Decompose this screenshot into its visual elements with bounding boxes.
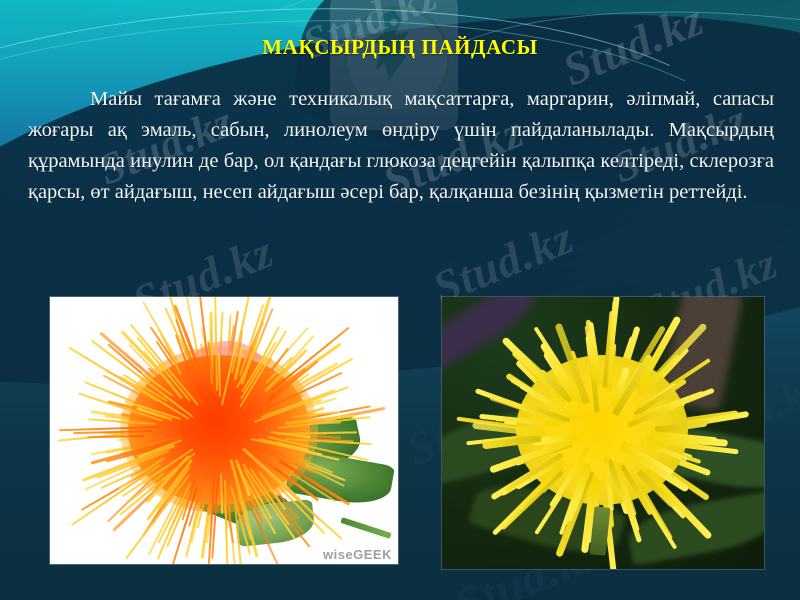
safflower-yellow-photo[interactable] (442, 297, 764, 569)
safflower-orange-photo[interactable]: wiseGEEK (50, 297, 398, 564)
slide-body-text: Майы тағамға және техникалық мақсаттарға… (28, 84, 774, 208)
slide-title: МАҚСЫРДЫҢ ПАЙДАСЫ (0, 35, 800, 60)
presentation-slide: Stud.kzStud.kzStud.kzStud.kzStud.kzStud.… (0, 0, 800, 600)
photo-stem (340, 517, 391, 539)
photo-credit-watermark: wiseGEEK (323, 547, 392, 562)
